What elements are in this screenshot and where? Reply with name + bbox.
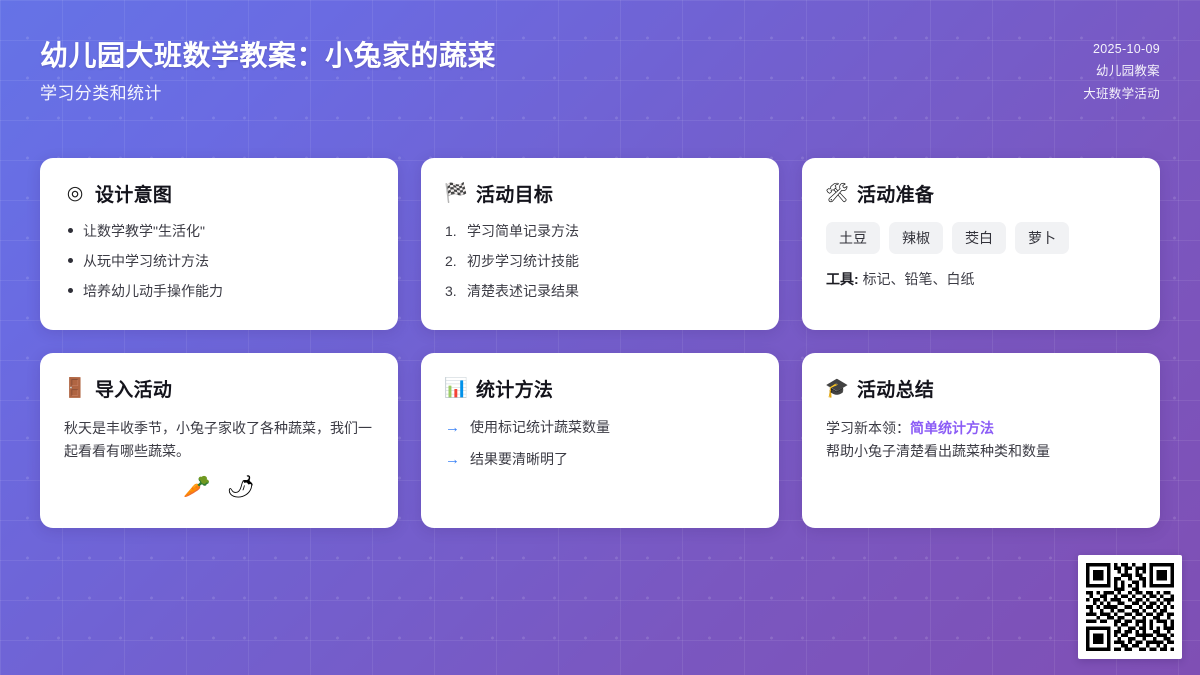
door-icon: 🚪 <box>64 378 86 400</box>
bar-chart-icon: 📊 <box>445 378 467 400</box>
card-activity-goals[interactable]: 🏁 活动目标 1. 学习简单记录方法 2. 初步学习统计技能 3. 清楚表述记录… <box>421 158 779 330</box>
card-header: 🛠 活动准备 <box>826 180 1136 207</box>
qr-code[interactable] <box>1078 555 1182 659</box>
card-design-intent[interactable]: ◎ 设计意图 让数学教学"生活化" 从玩中学习统计方法 培养幼儿动手操作能力 <box>40 158 398 330</box>
bullseye-target-icon: ◎ <box>64 183 86 205</box>
card-activity-summary[interactable]: 🎓 活动总结 学习新本领：简单统计方法 帮助小兔子清楚看出蔬菜种类和数量 <box>802 353 1160 528</box>
list-item-label: 结果要清晰明了 <box>470 449 568 469</box>
arrow-right-icon: → <box>445 420 460 435</box>
graduation-cap-icon: 🎓 <box>826 378 848 400</box>
meta-date: 2025-10-09 <box>1093 42 1160 56</box>
list-item: 让数学教学"生活化" <box>64 222 374 241</box>
card-statistics-method[interactable]: 📊 统计方法 → 使用标记统计蔬菜数量 → 结果要清晰明了 <box>421 353 779 528</box>
card-header: 🏁 活动目标 <box>445 180 755 207</box>
summary-prefix: 学习新本领： <box>826 420 910 436</box>
vegetable-emoji-row: 🥕 🌶 <box>64 476 374 498</box>
material-tag-row: 土豆 辣椒 茭白 萝卜 <box>826 222 1136 254</box>
meta-activity: 大班数学活动 <box>1083 83 1160 102</box>
card-title: 设计意图 <box>95 180 172 207</box>
arrow-right-icon: → <box>445 452 460 467</box>
list-item-label: 学习简单记录方法 <box>467 222 579 241</box>
tools-line: 工具: 标记、铅笔、白纸 <box>826 269 1136 289</box>
card-title: 活动总结 <box>857 375 934 402</box>
card-title: 活动准备 <box>857 180 934 207</box>
card-activity-preparation[interactable]: 🛠 活动准备 土豆 辣椒 茭白 萝卜 工具: 标记、铅笔、白纸 <box>802 158 1160 330</box>
list-item: 培养幼儿动手操作能力 <box>64 282 374 301</box>
arrow-list: → 使用标记统计蔬菜数量 → 结果要清晰明了 <box>445 417 755 469</box>
material-tag[interactable]: 茭白 <box>952 222 1006 254</box>
list-item-index: 2. <box>445 252 460 271</box>
hot-pepper-emoji: 🌶 <box>227 476 255 498</box>
list-item: → 使用标记统计蔬菜数量 <box>445 417 755 437</box>
page-subtitle: 学习分类和统计 <box>40 79 496 104</box>
card-header: 🚪 导入活动 <box>64 375 374 402</box>
list-item: 3. 清楚表述记录结果 <box>445 282 755 301</box>
summary-line-1: 学习新本领：简单统计方法 <box>826 417 1136 440</box>
card-header: 🎓 活动总结 <box>826 375 1136 402</box>
tools-value: 标记、铅笔、白纸 <box>863 271 975 287</box>
list-item-label: 初步学习统计技能 <box>467 252 579 271</box>
material-tag[interactable]: 萝卜 <box>1015 222 1069 254</box>
list-item-label: 使用标记统计蔬菜数量 <box>470 417 610 437</box>
bullet-list: 让数学教学"生活化" 从玩中学习统计方法 培养幼儿动手操作能力 <box>64 222 374 301</box>
list-item: 1. 学习简单记录方法 <box>445 222 755 241</box>
list-item-index: 3. <box>445 282 460 301</box>
material-tag[interactable]: 土豆 <box>826 222 880 254</box>
meta-category: 幼儿园教案 <box>1096 60 1160 79</box>
numbered-list: 1. 学习简单记录方法 2. 初步学习统计技能 3. 清楚表述记录结果 <box>445 222 755 301</box>
carrot-emoji: 🥕 <box>183 476 210 498</box>
tools-label: 工具: <box>826 271 859 287</box>
list-item-label: 清楚表述记录结果 <box>467 282 579 301</box>
summary-accent-text: 简单统计方法 <box>910 420 994 436</box>
list-item-index: 1. <box>445 222 460 241</box>
summary-line-2: 帮助小兔子清楚看出蔬菜种类和数量 <box>826 440 1136 463</box>
header-title-block: 幼儿园大班数学教案：小兔家的蔬菜 学习分类和统计 <box>40 38 496 104</box>
header-meta-block: 2025-10-09 幼儿园教案 大班数学活动 <box>1083 38 1160 102</box>
card-title: 统计方法 <box>476 375 553 402</box>
hammer-and-wrench-icon: 🛠 <box>826 183 848 205</box>
card-introduction-activity[interactable]: 🚪 导入活动 秋天是丰收季节，小兔子家收了各种蔬菜，我们一起看看有哪些蔬菜。 🥕… <box>40 353 398 528</box>
slide-canvas: 幼儿园大班数学教案：小兔家的蔬菜 学习分类和统计 2025-10-09 幼儿园教… <box>0 0 1200 675</box>
slide-header: 幼儿园大班数学教案：小兔家的蔬菜 学习分类和统计 2025-10-09 幼儿园教… <box>0 0 1200 140</box>
card-header: 📊 统计方法 <box>445 375 755 402</box>
list-item: 从玩中学习统计方法 <box>64 252 374 271</box>
material-tag[interactable]: 辣椒 <box>889 222 943 254</box>
qr-code-canvas <box>1086 563 1174 651</box>
list-item: 2. 初步学习统计技能 <box>445 252 755 271</box>
card-grid: ◎ 设计意图 让数学教学"生活化" 从玩中学习统计方法 培养幼儿动手操作能力 🏁… <box>40 158 1160 528</box>
page-title: 幼儿园大班数学教案：小兔家的蔬菜 <box>40 38 496 73</box>
list-item: → 结果要清晰明了 <box>445 449 755 469</box>
intro-paragraph: 秋天是丰收季节，小兔子家收了各种蔬菜，我们一起看看有哪些蔬菜。 <box>64 417 374 462</box>
card-header: ◎ 设计意图 <box>64 180 374 207</box>
card-title: 活动目标 <box>476 180 553 207</box>
checkered-flag-icon: 🏁 <box>445 183 467 205</box>
card-title: 导入活动 <box>95 375 172 402</box>
